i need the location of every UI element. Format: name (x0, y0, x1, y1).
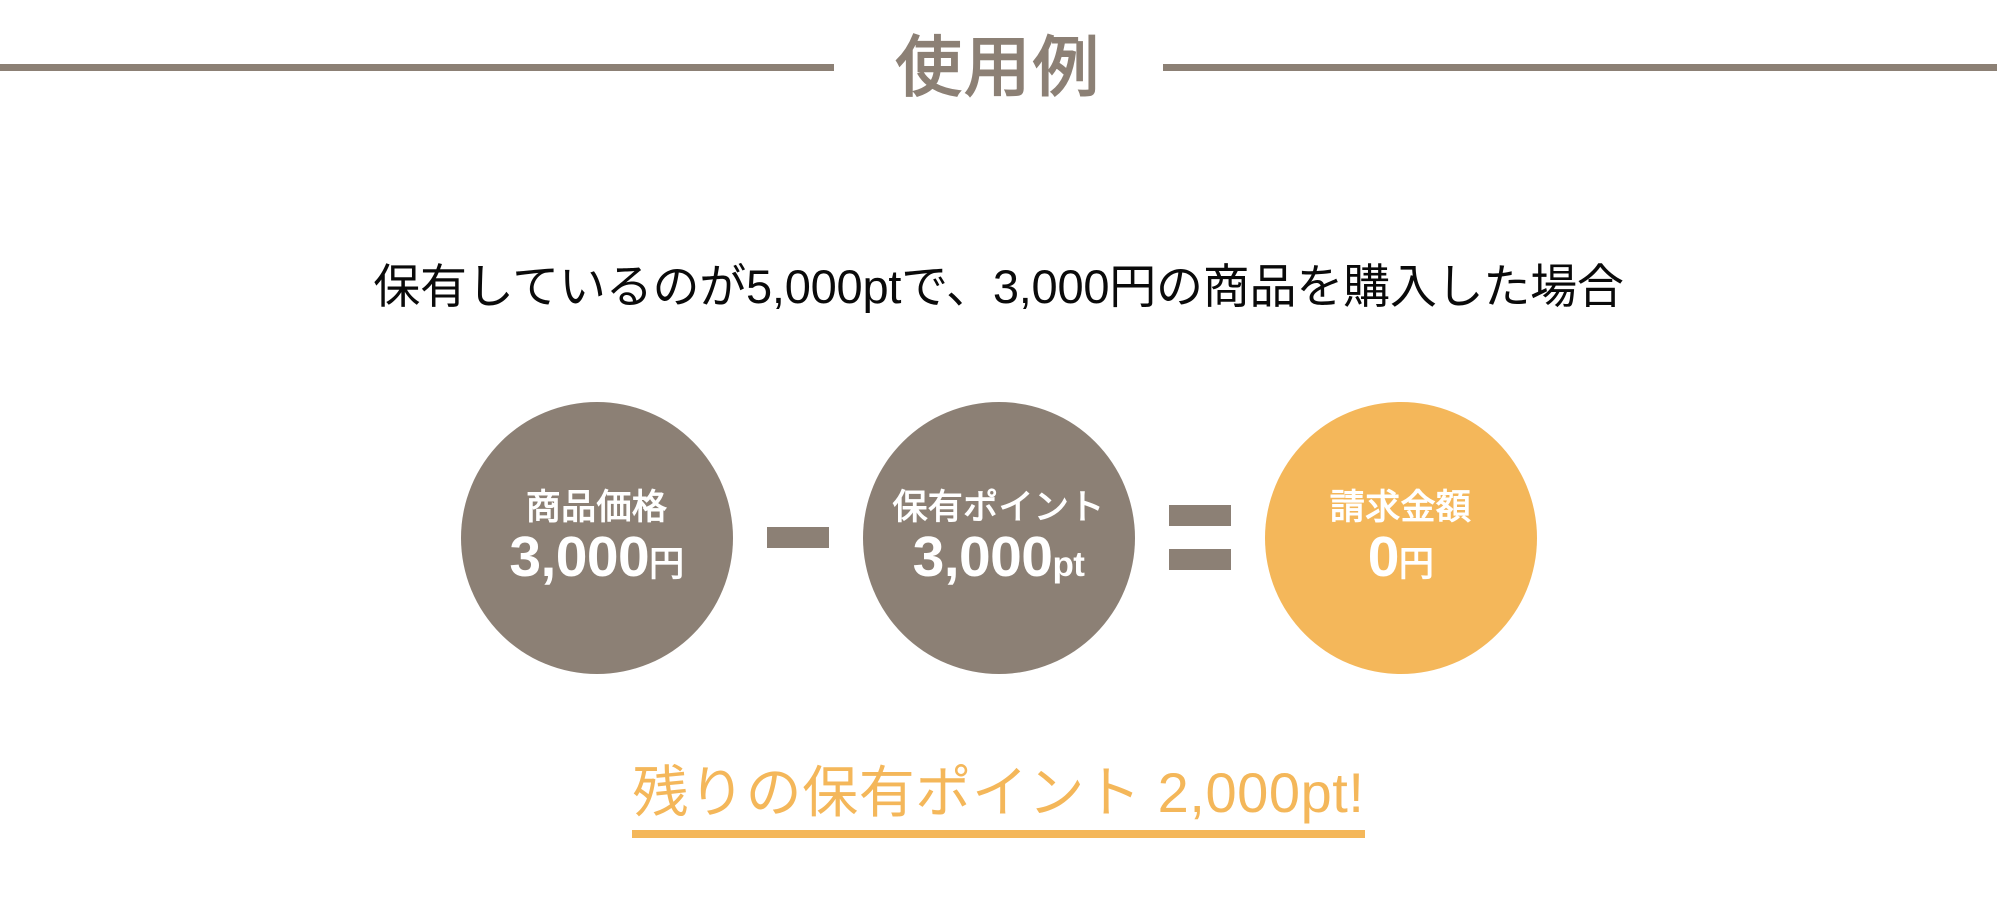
term-label: 保有ポイント (892, 490, 1104, 525)
term-item-billed-amount: 請求金額 0円 (1265, 402, 1537, 674)
minus-operator-icon (733, 527, 863, 548)
equals-bar-bottom (1169, 549, 1231, 570)
page-title: 使用例 (896, 34, 1102, 100)
header-rule-left (0, 64, 834, 71)
minus-bar (767, 527, 829, 548)
term-unit: 円 (649, 547, 683, 582)
term-amount: 3,000 (509, 529, 649, 586)
equals-operator-icon (1135, 505, 1265, 570)
section-header: 使用例 (0, 26, 1997, 108)
remaining-points-note: 残りの保有ポイント 2,000pt! (0, 760, 1997, 838)
term-value: 0円 (1368, 529, 1434, 586)
term-label: 商品価格 (526, 490, 667, 525)
term-unit: pt (1052, 547, 1084, 582)
usage-example-section: 使用例 保有しているのが5,000ptで、3,000円の商品を購入した場合 商品… (0, 0, 1997, 910)
remaining-points-text: 残りの保有ポイント 2,000pt! (632, 760, 1364, 838)
term-amount: 3,000 (913, 529, 1053, 586)
term-value: 3,000pt (913, 529, 1085, 586)
calculation-equation: 商品価格 3,000円 保有ポイント 3,000pt 請求金額 0円 (0, 400, 1997, 675)
header-rule-right (1163, 64, 1997, 71)
term-label: 請求金額 (1330, 490, 1471, 525)
equals-bar-top (1169, 505, 1231, 526)
term-item-held-points: 保有ポイント 3,000pt (863, 402, 1135, 674)
term-unit: 円 (1399, 547, 1433, 582)
scenario-description: 保有しているのが5,000ptで、3,000円の商品を購入した場合 (0, 258, 1997, 317)
term-item-product-price: 商品価格 3,000円 (461, 402, 733, 674)
term-amount: 0 (1368, 529, 1399, 586)
term-value: 3,000円 (509, 529, 683, 586)
